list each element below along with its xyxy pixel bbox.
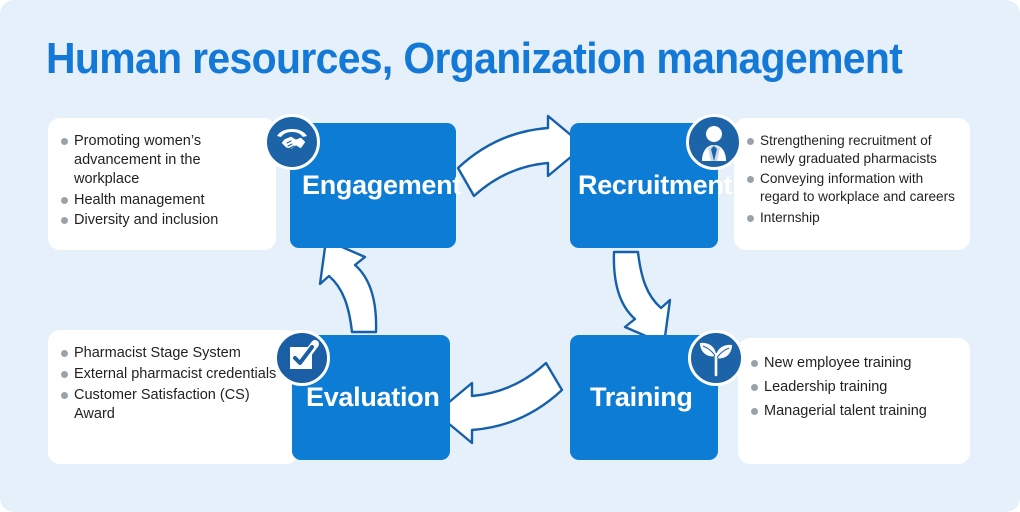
list-item: Diversity and inclusion [60, 211, 268, 230]
list-item: Leadership training [750, 378, 964, 397]
list-item: Conveying information with regard to wor… [746, 170, 964, 205]
list-item: Strengthening recruitment of newly gradu… [746, 132, 964, 167]
training-bullet-list: New employee training Leadership trainin… [738, 338, 970, 421]
engagement-info-card: Promoting women’s advancement in the wor… [48, 118, 276, 250]
arrow-recruitment-to-training [614, 252, 670, 344]
page-title: Human resources, Organization management [46, 34, 902, 84]
list-item: New employee training [750, 354, 964, 373]
arrow-training-to-evaluation [436, 363, 562, 443]
stage-label-training: Training [570, 382, 693, 413]
engagement-bullet-list: Promoting women’s advancement in the wor… [48, 118, 276, 230]
training-info-card: New employee training Leadership trainin… [738, 338, 970, 464]
recruitment-info-card: Strengthening recruitment of newly gradu… [734, 118, 970, 250]
handshake-icon [264, 114, 320, 170]
sprout-icon [688, 330, 744, 386]
recruitment-bullet-list: Strengthening recruitment of newly gradu… [734, 118, 970, 226]
list-item: Health management [60, 191, 268, 210]
evaluation-bullet-list: Pharmacist Stage System External pharmac… [48, 330, 298, 423]
list-item: Managerial talent training [750, 402, 964, 421]
list-item: Pharmacist Stage System [60, 344, 292, 363]
list-item: Promoting women’s advancement in the wor… [60, 132, 268, 189]
stage-label-evaluation: Evaluation [292, 382, 440, 413]
stage-label-recruitment: Recruitment [570, 170, 732, 201]
list-item: Customer Satisfaction (CS) Award [60, 386, 292, 424]
person-suit-icon [686, 114, 742, 170]
evaluation-info-card: Pharmacist Stage System External pharmac… [48, 330, 298, 464]
arrow-engagement-to-recruitment [458, 116, 584, 196]
list-item: Internship [746, 209, 964, 227]
arrow-evaluation-to-engagement [320, 240, 376, 332]
stage-label-engagement: Engagement [290, 170, 461, 201]
checkbox-check-icon [274, 330, 330, 386]
infographic-canvas: Human resources, Organization management… [0, 0, 1020, 512]
list-item: External pharmacist credentials [60, 365, 292, 384]
